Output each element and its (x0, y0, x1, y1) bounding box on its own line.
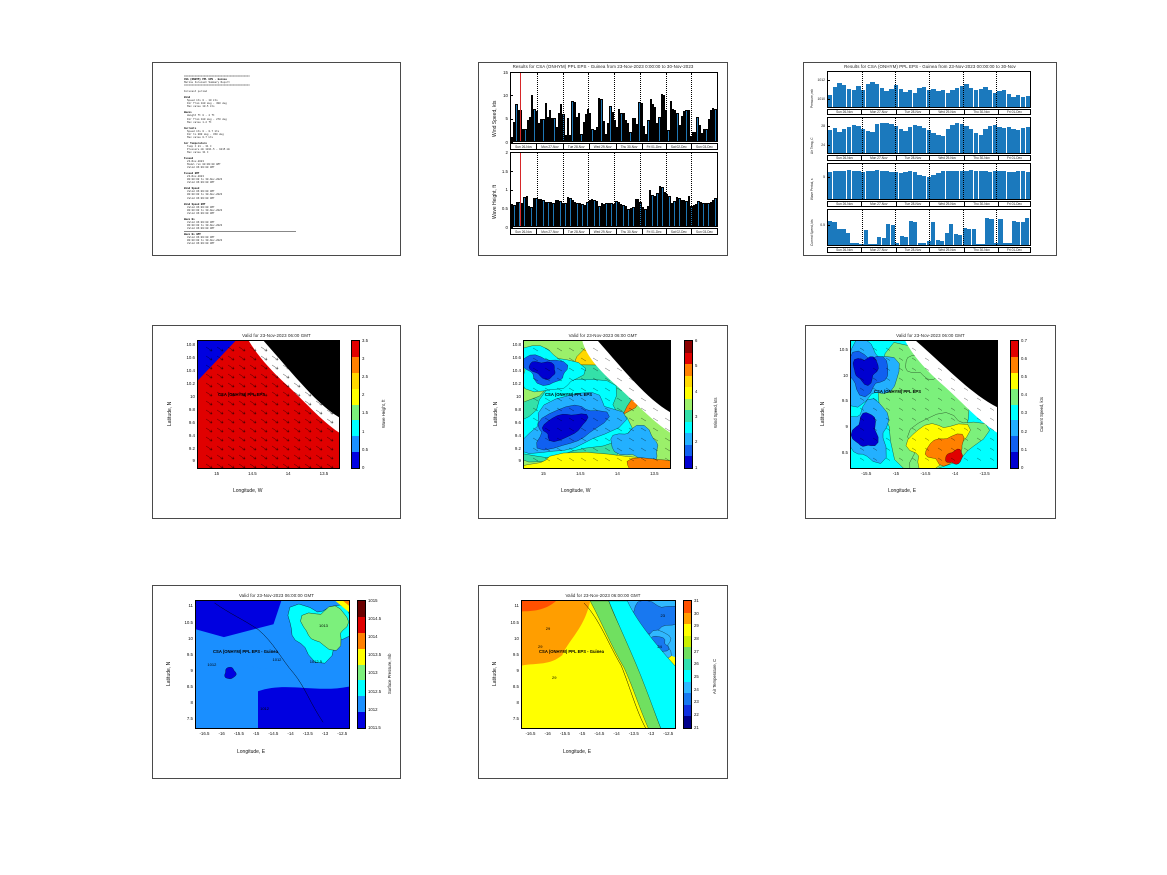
date-tick-label: Thu 30-Nov (617, 144, 643, 149)
colorbar-tick-label: 1012 (368, 707, 378, 712)
colorbar-segment (1011, 420, 1018, 436)
bar (974, 171, 978, 199)
map-x-tick-label: -13.5 (979, 471, 991, 476)
bar (950, 171, 954, 199)
bar (936, 135, 940, 153)
bar (972, 229, 976, 245)
bar (852, 171, 856, 199)
date-tick-label: Thu 30-Nov (617, 229, 643, 234)
axis-tick (510, 171, 513, 172)
map-y-tick-label: 10.2 (181, 381, 195, 386)
bar (880, 88, 884, 107)
bar (714, 198, 716, 226)
colorbar-segment (685, 353, 692, 365)
colorbar-tick-label: 1 (695, 465, 697, 470)
date-tick-label: Thu 30-Nov (965, 248, 999, 252)
date-tick-label: Mon 27-Nov (862, 110, 897, 114)
wave-height-map-panel: Valid for 23-Nov-2023 06:00 GMT CSA (ONH… (152, 325, 401, 519)
colorbar-label-4: Surface Pressure, mb (387, 654, 392, 695)
colorbar-segment (358, 649, 365, 665)
bar (931, 133, 935, 153)
wind-speed-map-canvas[interactable] (523, 340, 671, 469)
map-y-tick-label: 10 (507, 394, 521, 399)
colorbar-tick-label: 23 (694, 699, 699, 704)
site-label-2: CSA (ONHYM) PPL EPS (545, 392, 592, 397)
date-tick-label: Tue 28-Nov (564, 229, 590, 234)
temperature-contour-label: 29 (538, 644, 542, 649)
map-y-tick-label: 9.4 (507, 433, 521, 438)
map-y-tick-label: 10.6 (507, 355, 521, 360)
bar (941, 136, 945, 154)
colorbar-tick-label: 30 (694, 611, 699, 616)
current-time-marker (520, 153, 521, 226)
bar (1026, 127, 1030, 153)
site-label-4: CSA (ONHYM) PPL EPS - Guinea (213, 649, 278, 654)
colorbar-segment (352, 436, 359, 452)
gridline (929, 118, 930, 153)
axis-tick-label: 0 (501, 225, 508, 230)
map-x-tick-label: 14.5 (574, 471, 586, 476)
date-tick-label: Fri 01-Dec (999, 248, 1030, 252)
map-y-tick-label: 9.6 (507, 420, 521, 425)
bar (988, 90, 992, 108)
colorbar-segment (685, 422, 692, 434)
colorbar-segment (352, 373, 359, 389)
colorbar-segment (684, 636, 691, 648)
gridline (895, 164, 896, 199)
colorbar-segment (358, 601, 365, 617)
colorbar-tick-label: 31 (694, 598, 699, 603)
report-line: Valid 06:00:00 GMT (184, 227, 390, 230)
map-x-tick-label: 15 (211, 471, 223, 476)
colorbar-segment (685, 399, 692, 411)
bar (1007, 127, 1011, 153)
colorbar-tick-label: 21 (694, 725, 699, 730)
map-x-tick-label: -16 (216, 731, 228, 736)
colorbar-tick-label: 3 (362, 356, 364, 361)
map-x-tick-label: 13.5 (318, 471, 330, 476)
bar (997, 127, 1001, 153)
bar (913, 172, 917, 199)
bar (974, 133, 978, 153)
bar (852, 125, 856, 153)
colorbar-segment (358, 633, 365, 649)
colorbar-tick-label: 1013.5 (368, 652, 381, 657)
colorbar-segment (684, 647, 691, 659)
map-y-tick-label: 10.6 (181, 355, 195, 360)
date-tick-label: Mon 27-Nov (537, 144, 564, 149)
wind-speed-colorbar (684, 340, 693, 469)
date-tick-label: Wed 29-Nov (930, 110, 965, 114)
temperature-contour-label: 29 (552, 675, 556, 680)
date-tick-label: Sun 26-Nov (828, 156, 862, 160)
colorbar-tick-label: 1 (362, 429, 364, 434)
bar (847, 89, 851, 107)
wind-wave-timeseries-panel: Results for CSA (ONHYM) PPL EPS - Guinea… (478, 62, 728, 256)
bar (864, 230, 868, 245)
map-y-tick-label: 8.5 (834, 450, 848, 455)
wind-speed-y-axis-label: Wind Speed, kts (492, 101, 498, 137)
date-axis-strip-1: Sun 26-NovMon 27-NovTue 28-NovWed 29-Nov… (510, 143, 718, 150)
bar (856, 126, 860, 153)
colorbar-segment (352, 405, 359, 421)
bar (1021, 128, 1025, 153)
map-x-tick-label: -14 (949, 471, 961, 476)
colorbar-tick-label: 0.7 (1021, 338, 1027, 343)
date-axis-strip-a: Sun 26-NovMon 27-NovTue 28-NovWed 29-Nov… (827, 109, 1031, 115)
colorbar-segment (352, 420, 359, 436)
colorbar-segment (684, 682, 691, 694)
date-tick-label: Sun 03-Dec (692, 229, 717, 234)
date-tick-label: Tue 28-Nov (897, 110, 931, 114)
map-x-tick-label: -15.5 (559, 731, 571, 736)
date-tick-label: Sun 03-Dec (692, 144, 717, 149)
report-line: Valid 06:00:00 GMT (184, 242, 390, 245)
date-tick-label: Wed 29-Nov (590, 144, 617, 149)
map-y-tick-label: 11 (179, 603, 193, 608)
bar (922, 128, 926, 153)
temperature-contour-label: 23 (661, 613, 665, 618)
gridline (640, 73, 641, 141)
axis-tick-label: 28 (814, 124, 825, 128)
date-axis-strip-d: Sun 26-NovMon 27-NovTue 28-NovWed 29-Nov… (827, 247, 1031, 253)
bar (922, 87, 926, 107)
map-x-tick-label: -14 (285, 731, 297, 736)
bar (899, 89, 903, 107)
colorbar-segment (352, 389, 359, 405)
gridline (537, 73, 538, 141)
colorbar-tick-label: 0.5 (1021, 374, 1027, 379)
axis-tick (510, 208, 513, 209)
date-tick-label: Fri 01-Dec (643, 144, 667, 149)
map-y-tick-label: 9.5 (179, 652, 193, 657)
gridline (588, 73, 589, 141)
colorbar-segment (352, 452, 359, 468)
gridline (666, 153, 667, 226)
pressure-contour-label: 1012 (207, 662, 216, 667)
map-y-tick-label: 8 (179, 700, 193, 705)
bar (908, 171, 912, 199)
map-y-tick-label: 10 (179, 636, 193, 641)
map-y-tick-label: 9 (179, 668, 193, 673)
axis-tick-label: 5 (814, 175, 825, 179)
bar (866, 171, 870, 199)
colorbar-segment (684, 624, 691, 636)
bar (847, 127, 851, 153)
bar (964, 84, 968, 107)
map-x-tick-label: -15 (250, 731, 262, 736)
map-y-tick-label: 8.5 (179, 684, 193, 689)
colorbar-segment (358, 696, 365, 712)
site-label: CSA (ONHYM) PPL EPS (218, 392, 265, 397)
gridline (929, 72, 930, 107)
bar (931, 89, 935, 107)
bar (856, 86, 860, 107)
bar (903, 172, 907, 199)
bar (979, 171, 983, 199)
date-tick-label: Wed 29-Nov (590, 229, 617, 234)
colorbar-tick-label: 28 (694, 636, 699, 641)
map-y-tick-label: 9.4 (181, 433, 195, 438)
bar (1007, 172, 1011, 199)
colorbar-segment (685, 364, 692, 376)
bar (998, 219, 1002, 245)
bar (1021, 97, 1025, 107)
bar (979, 135, 983, 153)
colorbar-segment (1011, 357, 1018, 373)
colorbar-segment (358, 665, 365, 681)
bar (880, 171, 884, 199)
bar (866, 84, 870, 107)
wave-height-map-canvas[interactable] (197, 340, 340, 469)
bar (950, 125, 954, 153)
wave-period-y-axis-label: Wave Period, s (810, 179, 814, 201)
colorbar-tick-label: 0 (362, 465, 364, 470)
map-x-tick-label: -14.5 (267, 731, 279, 736)
bar (1026, 96, 1030, 107)
bar (955, 171, 959, 199)
colorbar-tick-label: 6 (695, 338, 697, 343)
bar (1007, 94, 1011, 107)
bar (1016, 171, 1020, 199)
map-y-tick-label: 8 (505, 700, 519, 705)
bar (936, 91, 940, 107)
bar (969, 170, 973, 199)
bar (880, 123, 884, 153)
map-x-tick-label: -15 (576, 731, 588, 736)
colorbar-tick-label: 2.5 (362, 374, 368, 379)
gridline (563, 153, 564, 226)
date-tick-label: Wed 29-Nov (930, 248, 965, 252)
bar (941, 171, 945, 199)
site-label-3: CSA (ONHYM) PPL EPS (874, 389, 921, 394)
bar (983, 87, 987, 107)
date-tick-label: Mon 27-Nov (862, 202, 897, 206)
bar (837, 132, 841, 153)
wave-period-subplot (827, 163, 1031, 200)
bar (931, 175, 935, 199)
bar (884, 91, 888, 107)
date-tick-label: Tue 28-Nov (897, 202, 931, 206)
colorbar-segment (1011, 405, 1018, 421)
colorbar-tick-label: 3.5 (362, 338, 368, 343)
map-x-tick-label: -12.5 (662, 731, 674, 736)
axis-tick (510, 72, 513, 73)
air-temperature-map-canvas[interactable] (521, 600, 676, 729)
map-y-tick-label: 9.2 (507, 446, 521, 451)
bar (969, 88, 973, 107)
gridline (862, 72, 863, 107)
temperature-contour-label: 24 (657, 644, 661, 649)
gridline (963, 164, 964, 199)
report-divider (184, 231, 296, 232)
map-x-tick-label: -14.5 (919, 471, 931, 476)
map-y-tick-label: 9 (505, 668, 519, 673)
colorbar-tick-label: 1014.5 (368, 616, 381, 621)
bar (870, 82, 874, 107)
report-text-body: ========================================… (184, 75, 390, 251)
map-y-tick-label: 10.8 (181, 342, 195, 347)
axis-tick (827, 99, 830, 100)
map-x-tick-label: -15 (890, 471, 902, 476)
pressure-contour-label: 1013 (319, 623, 328, 628)
gridline (862, 210, 863, 245)
pressure-contour-label: 1012 (260, 706, 269, 711)
bar (950, 90, 954, 107)
colorbar-tick-label: 1013 (368, 670, 378, 675)
map-y-tick-label: 9.8 (181, 407, 195, 412)
axis-tick (510, 227, 513, 228)
wave-height-y-axis-label: Wave Height, ft (492, 185, 498, 219)
colorbar-segment (685, 456, 692, 468)
axis-tick-label: 0.5 (501, 206, 508, 211)
gridline (614, 73, 615, 141)
bar (889, 89, 893, 107)
bar (833, 87, 837, 107)
chart-title-2: Results for CSA (ONHYM) PPL EPS - Guinea… (804, 64, 1056, 69)
map-x-tick-label: -12.5 (336, 731, 348, 736)
current-speed-map-canvas[interactable] (850, 340, 998, 469)
gridline (640, 153, 641, 226)
bar (946, 171, 950, 199)
pressure-map-canvas[interactable] (195, 600, 350, 729)
colorbar-segment (352, 341, 359, 357)
bar (875, 170, 879, 199)
gridline (996, 210, 997, 245)
bar (1016, 130, 1020, 153)
date-tick-label: Thu 30-Nov (965, 110, 999, 114)
date-tick-label: Fri 01-Dec (999, 156, 1030, 160)
colorbar-segment (684, 613, 691, 625)
colorbar-segment (1011, 373, 1018, 389)
chart-title: Results for CSA (ONHYM) PPL EPS - Guinea… (479, 64, 727, 69)
colorbar-segment (1011, 389, 1018, 405)
colorbar-segment (685, 410, 692, 422)
date-tick-label: Sun 26-Nov (511, 144, 537, 149)
gridline (996, 72, 997, 107)
bar (946, 93, 950, 107)
map-y-tick-label: 10 (181, 394, 195, 399)
date-tick-label: Tue 28-Nov (897, 156, 931, 160)
bar (903, 92, 907, 107)
date-tick-label: Tue 28-Nov (564, 144, 590, 149)
axis-tick-label: 0.5 (814, 223, 825, 227)
gridline (929, 164, 930, 199)
bar (842, 85, 846, 107)
date-tick-label: Mon 27-Nov (862, 156, 897, 160)
bar (833, 128, 837, 153)
map-y-tick-label: 10.5 (505, 620, 519, 625)
map-y-axis-label-3: Latitude, N (820, 402, 826, 426)
bar (899, 129, 903, 154)
axis-tick-label: 24 (814, 143, 825, 147)
bar (889, 124, 893, 153)
map-x-axis-label-4: Longitude, E (237, 749, 265, 755)
axis-tick (827, 177, 830, 178)
map-title-4: Valid for 23-Nov-2023 06:00:00 GMT (153, 593, 400, 598)
colorbar-segment (358, 680, 365, 696)
gridline (963, 210, 964, 245)
pressure-subplot (827, 71, 1031, 108)
gridline (895, 72, 896, 107)
map-x-tick-label: -13 (319, 731, 331, 736)
colorbar-segment (685, 341, 692, 353)
pressure-contour-label: 1012 (273, 657, 282, 662)
map-y-axis-label-4: Latitude, N (166, 662, 172, 686)
gridline (963, 72, 964, 107)
map-title-3: Valid for 23-Nov-2023 06:00 GMT (806, 333, 1055, 338)
bar (1021, 171, 1025, 199)
axis-tick (510, 142, 513, 143)
axis-tick-label: 1010 (814, 97, 825, 101)
date-tick-label: Fri 01-Dec (643, 229, 667, 234)
bar (983, 171, 987, 199)
bar (1002, 128, 1006, 153)
gridline (691, 153, 692, 226)
site-label-5: CSA (ONHYM) PPL EPS - Guinea (539, 649, 604, 654)
map-y-tick-label: 9.5 (505, 652, 519, 657)
colorbar-tick-label: 24 (694, 687, 699, 692)
current-speed-map-panel: Valid for 23-Nov-2023 06:00 GMT CSA (ONH… (805, 325, 1056, 519)
map-y-tick-label: 7.5 (505, 716, 519, 721)
air-temperature-colorbar (683, 600, 692, 729)
colorbar-segment (685, 387, 692, 399)
pressure-map-panel: Valid for 23-Nov-2023 06:00:00 GMT CSA (… (152, 585, 401, 779)
map-x-tick-label: -13.5 (628, 731, 640, 736)
gridline (588, 153, 589, 226)
colorbar-tick-label: 1014 (368, 634, 378, 639)
axis-tick-label: 2 (501, 150, 508, 155)
date-tick-label: Sun 26-Nov (828, 248, 862, 252)
bar (837, 171, 841, 199)
bar (917, 175, 921, 200)
bar (1002, 90, 1006, 108)
axis-tick (510, 95, 513, 96)
bar (833, 171, 837, 199)
colorbar-tick-label: 0.3 (1021, 410, 1027, 415)
colorbar-segment (684, 670, 691, 682)
gridline (666, 73, 667, 141)
colorbar-segment (684, 716, 691, 728)
bar (828, 130, 832, 153)
colorbar-tick-label: 0.6 (1021, 356, 1027, 361)
bar (955, 88, 959, 107)
gridline (537, 153, 538, 226)
map-x-tick-label: -16.5 (524, 731, 536, 736)
map-x-axis-label-5: Longitude, E (563, 749, 591, 755)
map-y-tick-label: 9.8 (507, 407, 521, 412)
bar (997, 171, 1001, 199)
map-y-tick-label: 10.4 (507, 368, 521, 373)
wind-speed-map-panel: Valid for 23-Nov-2023 06:00 GMT CSA (ONH… (478, 325, 728, 519)
map-y-tick-label: 9 (181, 458, 195, 463)
date-tick-label: Thu 30-Nov (965, 156, 999, 160)
colorbar-tick-label: 29 (694, 623, 699, 628)
wave-height-colorbar (351, 340, 360, 469)
map-x-tick-label: -14 (611, 731, 623, 736)
axis-tick-label: 0 (501, 140, 508, 145)
bar (899, 173, 903, 199)
map-y-tick-label: 10.8 (507, 342, 521, 347)
map-y-tick-label: 10.4 (181, 368, 195, 373)
bar (1011, 172, 1015, 199)
map-y-tick-label: 10 (505, 636, 519, 641)
bar (917, 88, 921, 107)
axis-tick-label: 10 (501, 93, 508, 98)
bar (908, 127, 912, 153)
axis-tick (827, 80, 830, 81)
map-x-tick-label: -13.5 (302, 731, 314, 736)
